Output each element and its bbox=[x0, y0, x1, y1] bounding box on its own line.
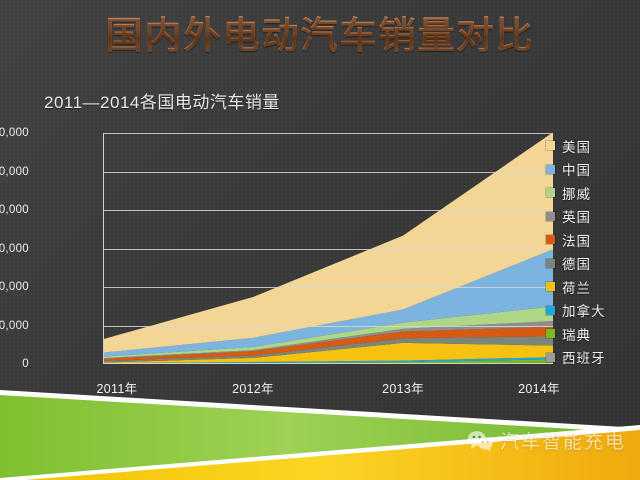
legend-item[interactable]: 加拿大 bbox=[546, 299, 606, 323]
legend-item-label: 瑞典 bbox=[562, 324, 591, 344]
legend-swatch-icon bbox=[546, 235, 555, 244]
legend-item[interactable]: 挪威 bbox=[546, 181, 606, 205]
y-axis-tick-label: 250,000 bbox=[0, 166, 29, 178]
legend-item[interactable]: 中国 bbox=[546, 158, 606, 182]
wechat-icon bbox=[467, 430, 493, 452]
legend-item-label: 德国 bbox=[562, 253, 591, 273]
y-axis-tick-label: 150,000 bbox=[0, 243, 29, 255]
page-title: 国内外电动汽车销量对比 bbox=[0, 12, 640, 60]
legend-item[interactable]: 美国 bbox=[546, 134, 606, 158]
legend-item-label: 挪威 bbox=[562, 183, 591, 203]
chart-legend: 美国中国挪威英国法国德国荷兰加拿大瑞典西班牙 bbox=[546, 134, 606, 369]
legend-swatch-icon bbox=[546, 353, 555, 362]
legend-swatch-icon bbox=[546, 282, 555, 291]
legend-swatch-icon bbox=[546, 306, 555, 315]
legend-item-label: 中国 bbox=[562, 159, 591, 179]
legend-item-label: 法国 bbox=[562, 230, 591, 250]
legend-item-label: 荷兰 bbox=[562, 277, 591, 297]
legend-item[interactable]: 英国 bbox=[546, 205, 606, 229]
legend-item[interactable]: 西班牙 bbox=[546, 346, 606, 370]
legend-swatch-icon bbox=[546, 188, 555, 197]
legend-swatch-icon bbox=[546, 329, 555, 338]
legend-item[interactable]: 荷兰 bbox=[546, 275, 606, 299]
gridline bbox=[103, 249, 553, 250]
plot-area: 050,000100,000150,000200,000250,000300,0… bbox=[103, 133, 553, 364]
gridline bbox=[103, 133, 553, 134]
y-axis-tick-label: 100,000 bbox=[0, 281, 29, 293]
legend-item-label: 英国 bbox=[562, 206, 591, 226]
footer-brand-text: 汽车智能充电 bbox=[500, 427, 626, 454]
legend-swatch-icon bbox=[546, 141, 555, 150]
gridline bbox=[103, 210, 553, 211]
footer-banner: 汽车智能充电 bbox=[0, 370, 640, 480]
legend-item-label: 加拿大 bbox=[562, 300, 606, 320]
banner-shapes bbox=[0, 370, 640, 480]
legend-item[interactable]: 瑞典 bbox=[546, 322, 606, 346]
y-axis-tick-label: 0 bbox=[0, 358, 29, 370]
legend-item[interactable]: 法国 bbox=[546, 228, 606, 252]
stacked-area-chart: 050,000100,000150,000200,000250,000300,0… bbox=[34, 126, 554, 376]
y-axis-tick-label: 300,000 bbox=[0, 127, 29, 139]
footer-brand: 汽车智能充电 bbox=[467, 427, 626, 454]
y-axis-tick-label: 50,000 bbox=[0, 320, 29, 332]
gridline bbox=[103, 287, 553, 288]
gridline bbox=[103, 326, 553, 327]
gridline bbox=[103, 172, 553, 173]
legend-swatch-icon bbox=[546, 259, 555, 268]
legend-swatch-icon bbox=[546, 212, 555, 221]
y-axis-tick-label: 200,000 bbox=[0, 204, 29, 216]
legend-item-label: 西班牙 bbox=[562, 347, 606, 367]
chart-title: 2011—2014各国电动汽车销量 bbox=[44, 88, 280, 113]
legend-swatch-icon bbox=[546, 165, 555, 174]
legend-item-label: 美国 bbox=[562, 136, 591, 156]
legend-item[interactable]: 德国 bbox=[546, 252, 606, 276]
presentation-slide: 国内外电动汽车销量对比 2011—2014各国电动汽车销量 050,000100… bbox=[0, 0, 640, 480]
